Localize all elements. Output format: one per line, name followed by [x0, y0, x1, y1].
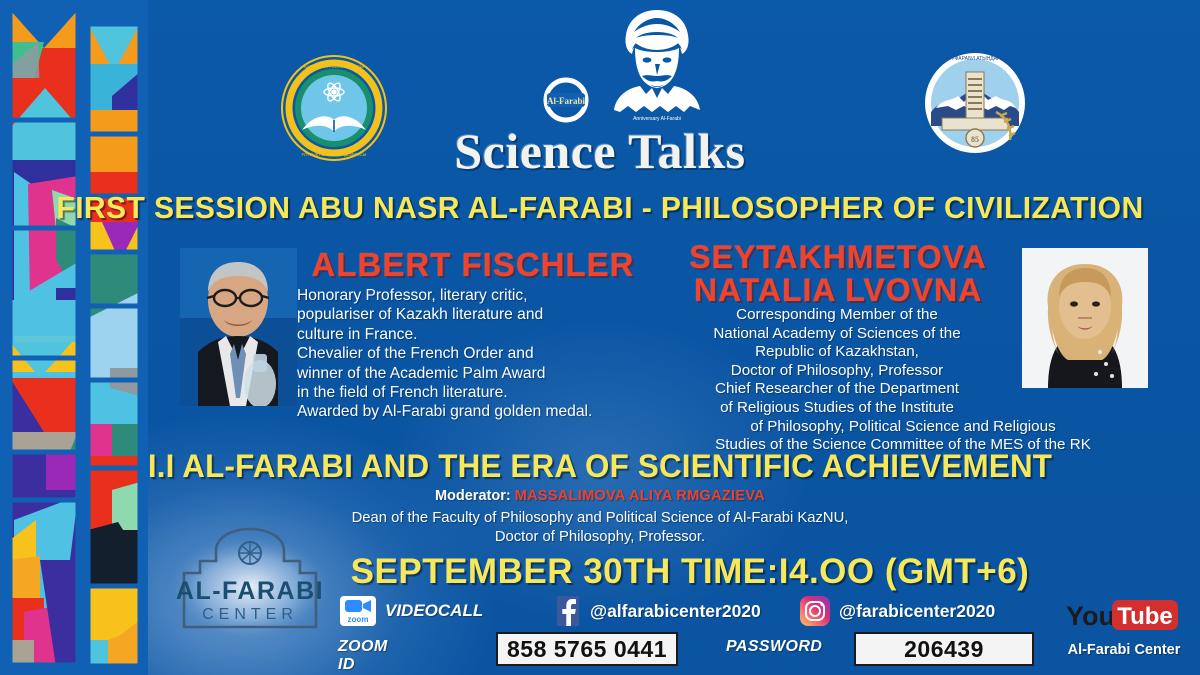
- svg-text:ҚАЗАҚСТАН РЕСПУБЛИКАСЫ: ҚАЗАҚСТАН РЕСПУБЛИКАСЫ: [304, 64, 364, 69]
- speaker-name-line-2: NATALIA LVOVNA: [662, 274, 1014, 307]
- zoom-icon[interactable]: zoom: [340, 596, 376, 626]
- moderator-title-line: Dean of the Faculty of Philosophy and Po…: [0, 509, 1200, 528]
- facebook-handle: @alfarabicenter2020: [590, 601, 761, 622]
- bio-line: of Philosophy, Political Science and Rel…: [648, 418, 1158, 437]
- al-farabi-center-logo: AL-FARABI CENTER: [160, 527, 340, 645]
- event-datetime: SEPTEMBER 30TH TIME:I4.OO (GMT+6): [330, 552, 1050, 592]
- bio-line: in the field of French literature.: [297, 383, 649, 402]
- youtube-icon[interactable]: You Tube: [1062, 596, 1186, 634]
- svg-text:Anniversary Al-Farabi: Anniversary Al-Farabi: [633, 116, 681, 122]
- bio-line: culture in France.: [297, 325, 649, 344]
- videocall-group[interactable]: zoom VIDEOCALL: [340, 596, 483, 626]
- zoom-id-value[interactable]: 858 5765 0441: [496, 632, 678, 666]
- speaker-name-line-1: SEYTAKHMETOVA: [662, 241, 1014, 274]
- instagram-group[interactable]: @farabicenter2020: [800, 596, 995, 626]
- svg-text:ӘЛ-ФАРАБИ ATЫНДАҒЫ: ӘЛ-ФАРАБИ ATЫНДАҒЫ: [946, 56, 1005, 62]
- bio-line: Corresponding Member of the: [648, 306, 1026, 325]
- center-logo-name: AL-FARABI: [176, 577, 324, 605]
- password-label: PASSWORD: [726, 638, 822, 656]
- al-farabi-portrait-illustration: Anniversary Al-Farabi: [594, 2, 720, 134]
- brand-title: Science Talks: [0, 126, 1200, 176]
- bio-line: Doctor of Philosophy, Professor: [648, 362, 1026, 381]
- bio-line: of Religious Studies of the Institute: [648, 399, 1026, 418]
- bio-line: winner of the Academic Palm Award: [297, 364, 649, 383]
- speaker-bio-fischler: Honorary Professor, literary critic, pop…: [297, 286, 649, 422]
- instagram-handle: @farabicenter2020: [839, 601, 995, 622]
- bio-line: Chief Researcher of the Department: [648, 380, 1026, 399]
- youtube-channel-name: Al-Farabi Center: [1062, 642, 1186, 658]
- zoom-id-label: ZOOM ID: [338, 638, 388, 674]
- session-title: FIRST SESSION ABU NASR AL-FARABI - PHILO…: [18, 190, 1182, 226]
- poster-canvas: ҚАЗАҚСТАН РЕСПУБЛИКАСЫ ҰЛТТЫҚ ҒЫЛЫМ АКАД…: [0, 0, 1200, 675]
- instagram-icon[interactable]: [800, 596, 830, 626]
- facebook-icon[interactable]: [555, 596, 581, 626]
- ring-badge-label: Al-Farabi: [547, 96, 585, 106]
- topic-title: I.I AL-FARABI AND THE ERA OF SCIENTIFIC …: [12, 448, 1188, 485]
- speaker-photo-fischler: [180, 248, 297, 406]
- bio-line: Honorary Professor, literary critic,: [297, 286, 649, 305]
- svg-text:You: You: [1066, 601, 1115, 631]
- moderator-line: Moderator: MASSALIMOVA ALIYA RMGAZIEVA: [0, 488, 1200, 504]
- al-farabi-ring-badge-icon: Al-Farabi: [531, 76, 601, 128]
- bio-line: National Academy of Sciences of the: [648, 325, 1026, 344]
- speaker-name-seytakhmetova: SEYTAKHMETOVA NATALIA LVOVNA: [662, 241, 1014, 306]
- speaker-name-fischler: ALBERT FISCHLER: [300, 248, 646, 282]
- facebook-group[interactable]: @alfarabicenter2020: [555, 596, 761, 626]
- svg-text:Tube: Tube: [1117, 603, 1173, 630]
- moderator-name: MASSALIMOVA ALIYA RMGAZIEVA: [515, 488, 765, 504]
- decorative-mosaic-border: [0, 0, 148, 675]
- youtube-group[interactable]: You Tube Al-Farabi Center: [1062, 596, 1186, 658]
- svg-text:zoom: zoom: [348, 615, 369, 624]
- bio-line: populariser of Kazakh literature and: [297, 305, 649, 324]
- bio-line: Republic of Kazakhstan,: [648, 343, 1026, 362]
- speaker-bio-seytakhmetova: Corresponding Member of the National Aca…: [648, 306, 1158, 455]
- bio-line: Chevalier of the French Order and: [297, 344, 649, 363]
- moderator-prefix: Moderator:: [435, 488, 511, 504]
- password-value[interactable]: 206439: [854, 632, 1034, 666]
- bio-line: Awarded by Al-Farabi grand golden medal.: [297, 402, 649, 421]
- center-logo-subtitle: CENTER: [202, 606, 298, 623]
- videocall-label: VIDEOCALL: [385, 601, 483, 621]
